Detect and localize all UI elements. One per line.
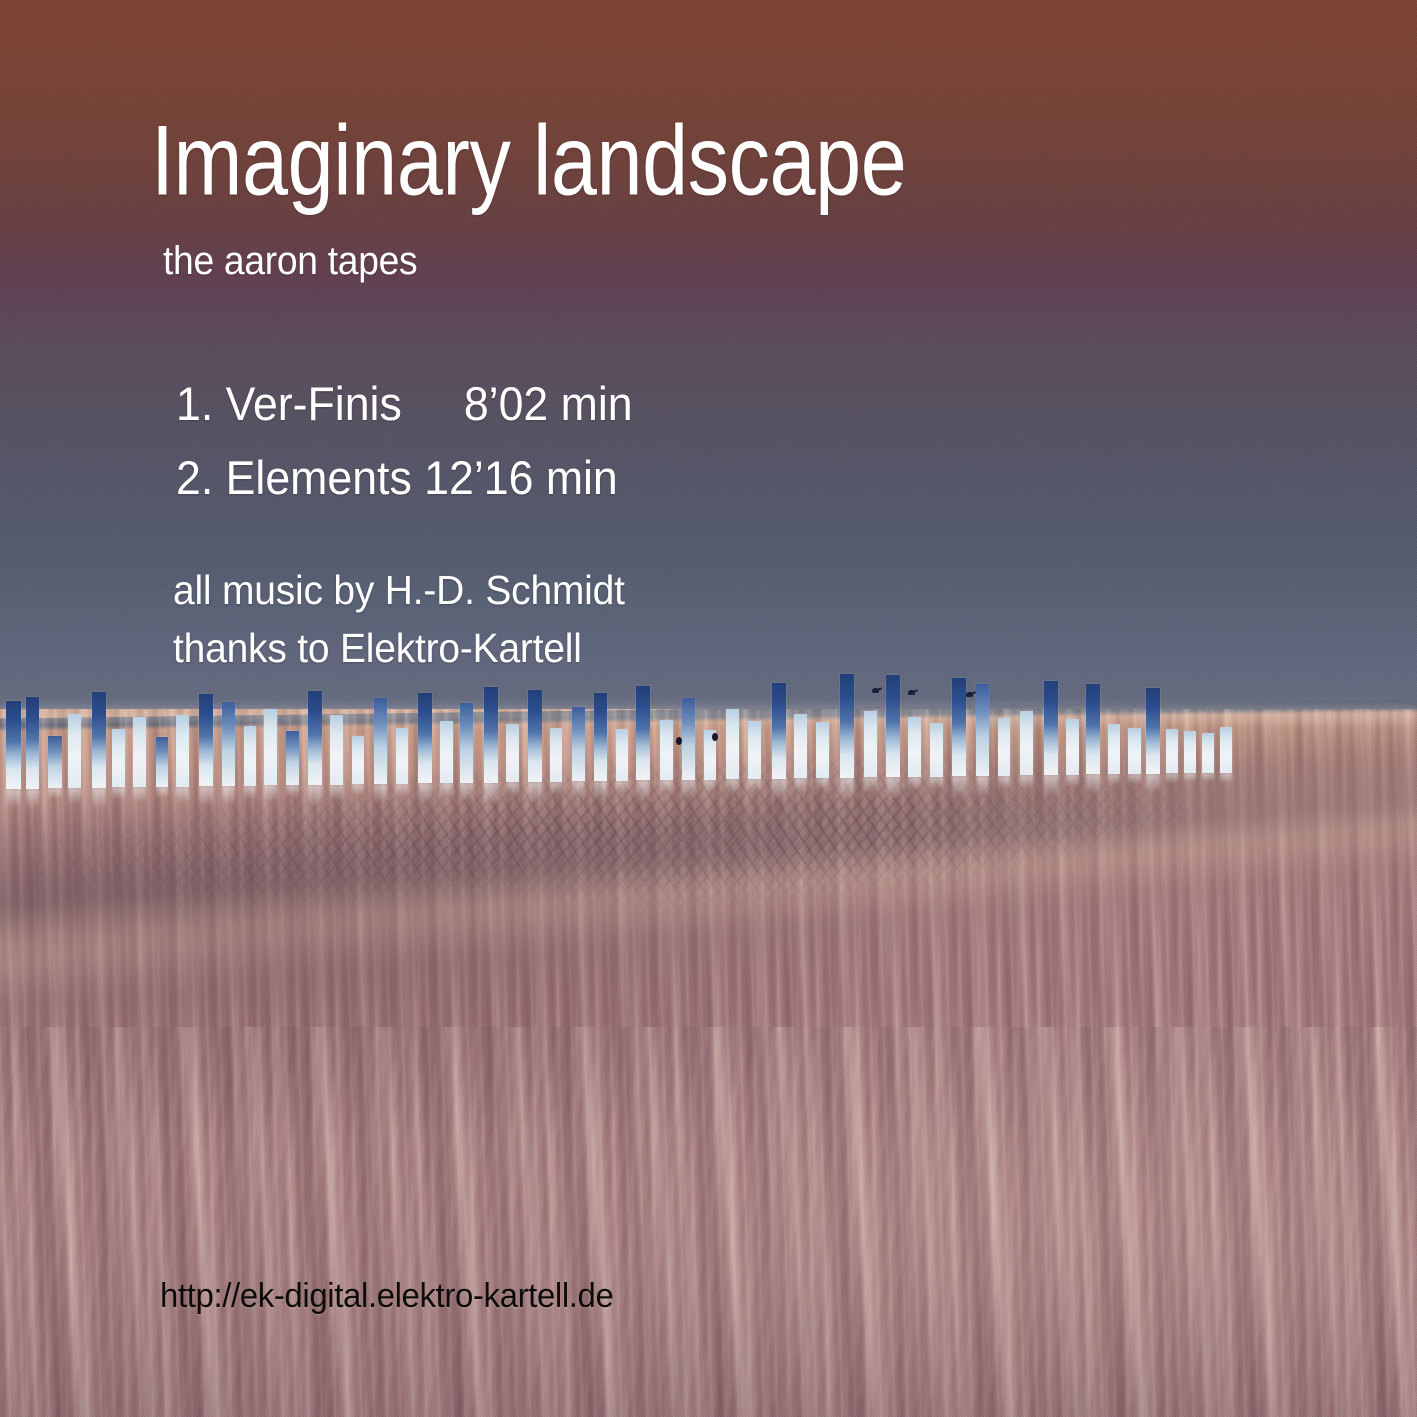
track-item-1: 1. Ver-Finis 8’02 min [176, 367, 633, 441]
credit-thanks-to: thanks to Elektro-Kartell [173, 619, 625, 677]
track-item-2: 2. Elements 12’16 min [176, 441, 633, 515]
credits-block: all music by H.-D. Schmidt thanks to Ele… [173, 561, 649, 677]
album-title: Imaginary landscape [151, 112, 906, 211]
album-subtitle: the aaron tapes [163, 239, 417, 284]
tracklist: 1. Ver-Finis 8’02 min 2. Elements 12’16 … [176, 367, 657, 515]
horizon-glare [0, 702, 1417, 728]
credit-music-by: all music by H.-D. Schmidt [173, 561, 625, 619]
album-cover-artwork: Imaginary landscape the aaron tapes 1. V… [0, 0, 1417, 1417]
website-url[interactable]: http://ek-digital.elektro-kartell.de [160, 1277, 613, 1316]
